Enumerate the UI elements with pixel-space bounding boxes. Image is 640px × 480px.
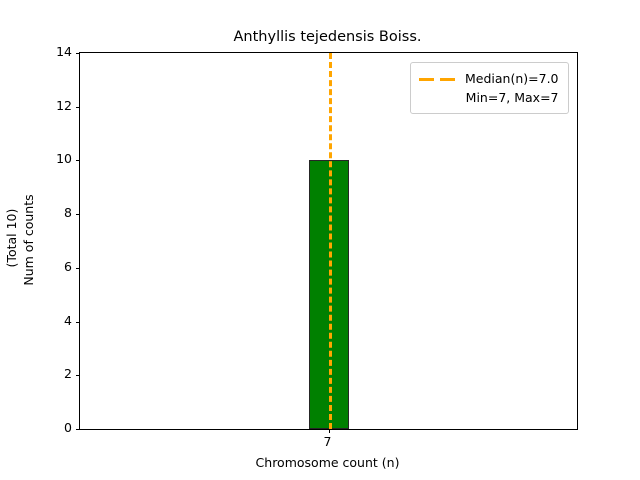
matplotlib-figure: Anthyllis tejedensis Boiss. 02468101214 … xyxy=(0,0,640,480)
y-tick-label: 4 xyxy=(64,315,72,328)
median-line xyxy=(329,53,332,429)
legend-item-median: Median(n)=7.0 xyxy=(419,69,559,88)
x-axis-label: Chromosome count (n) xyxy=(79,455,576,470)
y-tick-mark xyxy=(76,107,80,108)
y-tick-label: 12 xyxy=(56,100,72,113)
y-tick-label: 0 xyxy=(64,422,72,435)
y-tick-mark xyxy=(76,214,80,215)
y-tick-label: 10 xyxy=(56,153,72,166)
y-tick-label: 2 xyxy=(64,368,72,381)
y-tick-mark xyxy=(76,429,80,430)
legend: Median(n)=7.0 Min=7, Max=7 xyxy=(410,62,569,114)
y-tick-mark xyxy=(76,160,80,161)
y-tick-label: 14 xyxy=(56,46,72,59)
legend-label-minmax: Min=7, Max=7 xyxy=(419,91,559,105)
y-tick-mark xyxy=(76,375,80,376)
x-tick-mark xyxy=(329,429,330,433)
chart-title: Anthyllis tejedensis Boiss. xyxy=(79,29,576,45)
legend-label-median: Median(n)=7.0 xyxy=(465,72,559,86)
y-tick-label: 6 xyxy=(64,261,72,274)
y-tick-label: 8 xyxy=(64,207,72,220)
y-tick-mark xyxy=(76,53,80,54)
y-axis-label-wrapper: (Total 10) Num of counts xyxy=(0,52,40,428)
y-tick-mark xyxy=(76,322,80,323)
legend-item-minmax: Min=7, Max=7 xyxy=(419,88,559,107)
y-tick-mark xyxy=(76,268,80,269)
dashed-line-icon xyxy=(419,72,457,86)
y-axis-label: (Total 10) Num of counts xyxy=(3,194,37,285)
x-tick-label: 7 xyxy=(288,436,368,449)
